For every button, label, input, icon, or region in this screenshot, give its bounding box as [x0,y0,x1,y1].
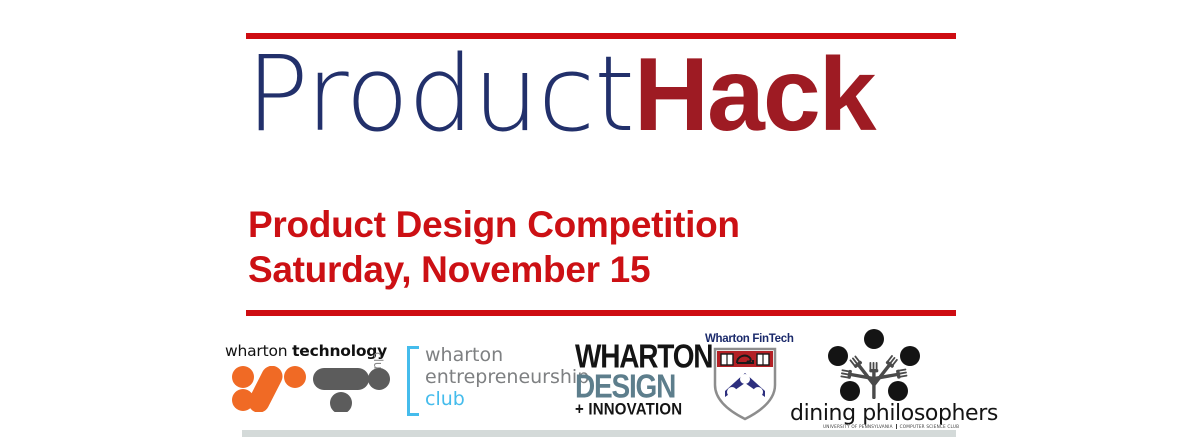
wharton-entrepreneurship-club-wordmark: wharton entrepreneurship club [425,344,589,410]
wec-line-wharton: wharton [425,344,589,366]
wec-line-club: club [425,388,589,410]
sponsor-logo-strip: wharton technology club wharton entrepre… [225,330,960,430]
wec-line-entrepreneurship: entrepreneurship [425,366,589,388]
subtitle-line-1: Product Design Competition [248,202,740,247]
wordmark-hack: Hack [634,37,875,153]
wordmark-product: Product [246,33,634,155]
sponsor-logo-wharton-technology-club: wharton technology club [225,342,395,412]
page-title: ProductHack [246,42,875,147]
sponsor-logo-wharton-design-innovation: WHARTON DESIGN + INNOVATION [575,338,693,420]
plates-and-forks-icon [810,329,938,405]
sponsor-logo-wharton-entrepreneurship-club: wharton entrepreneurship club [407,344,567,416]
dph-tagline-right: COMPUTER SCIENCE CLUB [896,424,963,429]
subtitle-line-2: Saturday, November 15 [248,247,740,292]
dining-philosophers-wordmark: dining philosophers [790,401,998,426]
divider-rule-middle [246,310,956,316]
wharton-fintech-wordmark: Wharton FinTech [705,333,794,345]
sponsor-logo-dining-philosophers: dining philosophers UNIVERSITY OF PENNSY… [790,329,960,434]
product-hack-poster: ProductHack Product Design Competition S… [0,0,1200,444]
wec-bracket-mark [407,346,419,416]
event-subtitle: Product Design Competition Saturday, Nov… [248,202,740,292]
dining-philosophers-tagline: UNIVERSITY OF PENNSYLVANIACOMPUTER SCIEN… [820,424,962,429]
wharton-technology-club-mark [227,366,392,412]
wharton-technology-club-wordmark: wharton technology [225,342,387,360]
wdi-line-innovation: + INNOVATION [575,400,682,419]
wtc-word-wharton: wharton [225,342,292,360]
divider-bar-bottom [242,430,956,437]
sponsor-logo-wharton-fintech: Wharton FinTech [703,333,785,425]
dph-tagline-left: UNIVERSITY OF PENNSYLVANIA [820,424,896,429]
upenn-shield-icon [711,347,791,423]
